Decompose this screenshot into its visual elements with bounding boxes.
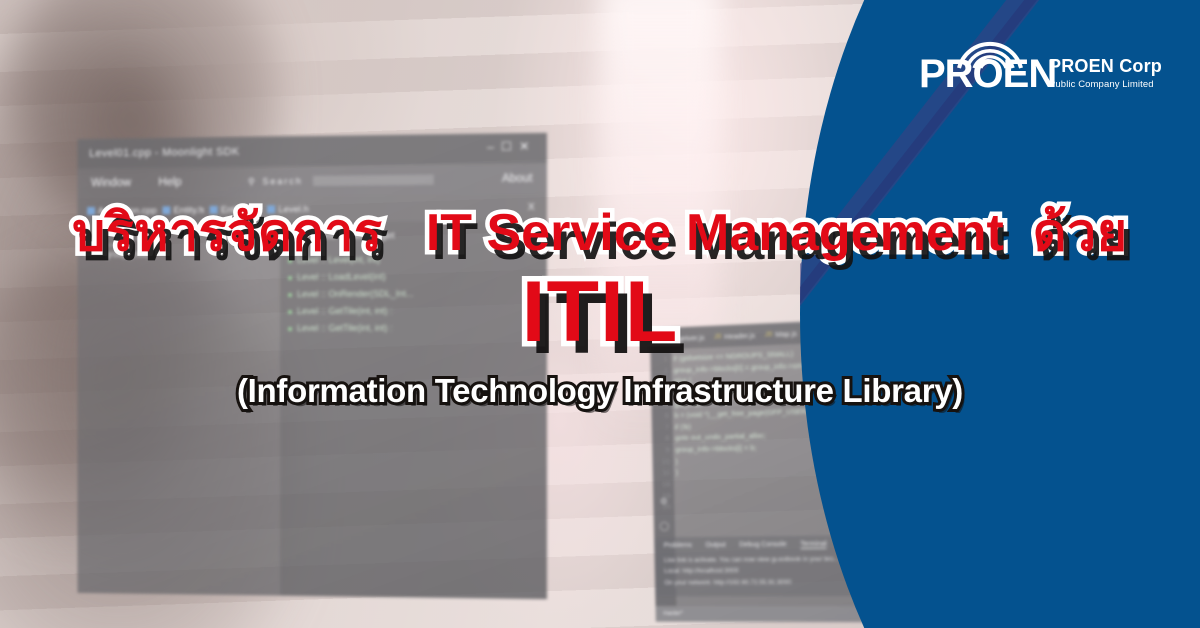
wifi-signal-icon [953,28,1027,70]
logo-mark: PROEN [919,28,1037,96]
ide-search-input[interactable] [313,175,434,186]
headline-thai-suffix: ด้วย [1033,204,1128,262]
headline-itil: ITIL [0,269,1200,355]
search-icon: ⚲ [248,176,257,187]
headline-subtitle: (Information Technology Infrastructure L… [0,373,1200,409]
headline-line-1: บริหารจัดการ IT Service Management ด้วย [0,206,1200,261]
ide-menu-about[interactable]: About [502,173,533,185]
ide-titlebar: Level01.cpp - Moonlight SDK –☐✕ [77,133,546,169]
proen-logo[interactable]: PROEN PROEN Corp Public Company Limited [919,28,1162,96]
settings-icon[interactable]: ⚙ [660,496,668,507]
ide-menu-window[interactable]: Window [91,177,131,189]
ide-search-label: Search [262,176,302,186]
company-subtitle: Public Company Limited [1049,79,1162,90]
headline-english: IT Service Management [426,204,1004,262]
status-branch[interactable]: master* [663,611,683,617]
ide-menu-help[interactable]: Help [158,176,181,188]
headline-block: บริหารจัดการ IT Service Management ด้วย … [0,206,1200,409]
company-name: PROEN Corp [1049,57,1162,77]
headline-thai-prefix: บริหารจัดการ [72,204,382,262]
panel-tab-problems[interactable]: Problems [664,542,692,550]
logo-text-block: PROEN Corp Public Company Limited [1049,57,1162,96]
ide-search[interactable]: ⚲ Search [248,174,434,187]
panel-tab-output[interactable]: Output [705,542,725,550]
ide-menubar: Window Help ⚲ Search About [77,163,546,198]
ide-window-title: Level01.cpp - Moonlight SDK [77,146,239,160]
promotional-banner: Level01.cpp - Moonlight SDK –☐✕ Window H… [0,0,1200,628]
ide-window-controls[interactable]: –☐✕ [487,139,537,154]
account-icon[interactable]: ◯ [659,521,669,532]
panel-tab-debug-console[interactable]: Debug Console [739,541,786,549]
